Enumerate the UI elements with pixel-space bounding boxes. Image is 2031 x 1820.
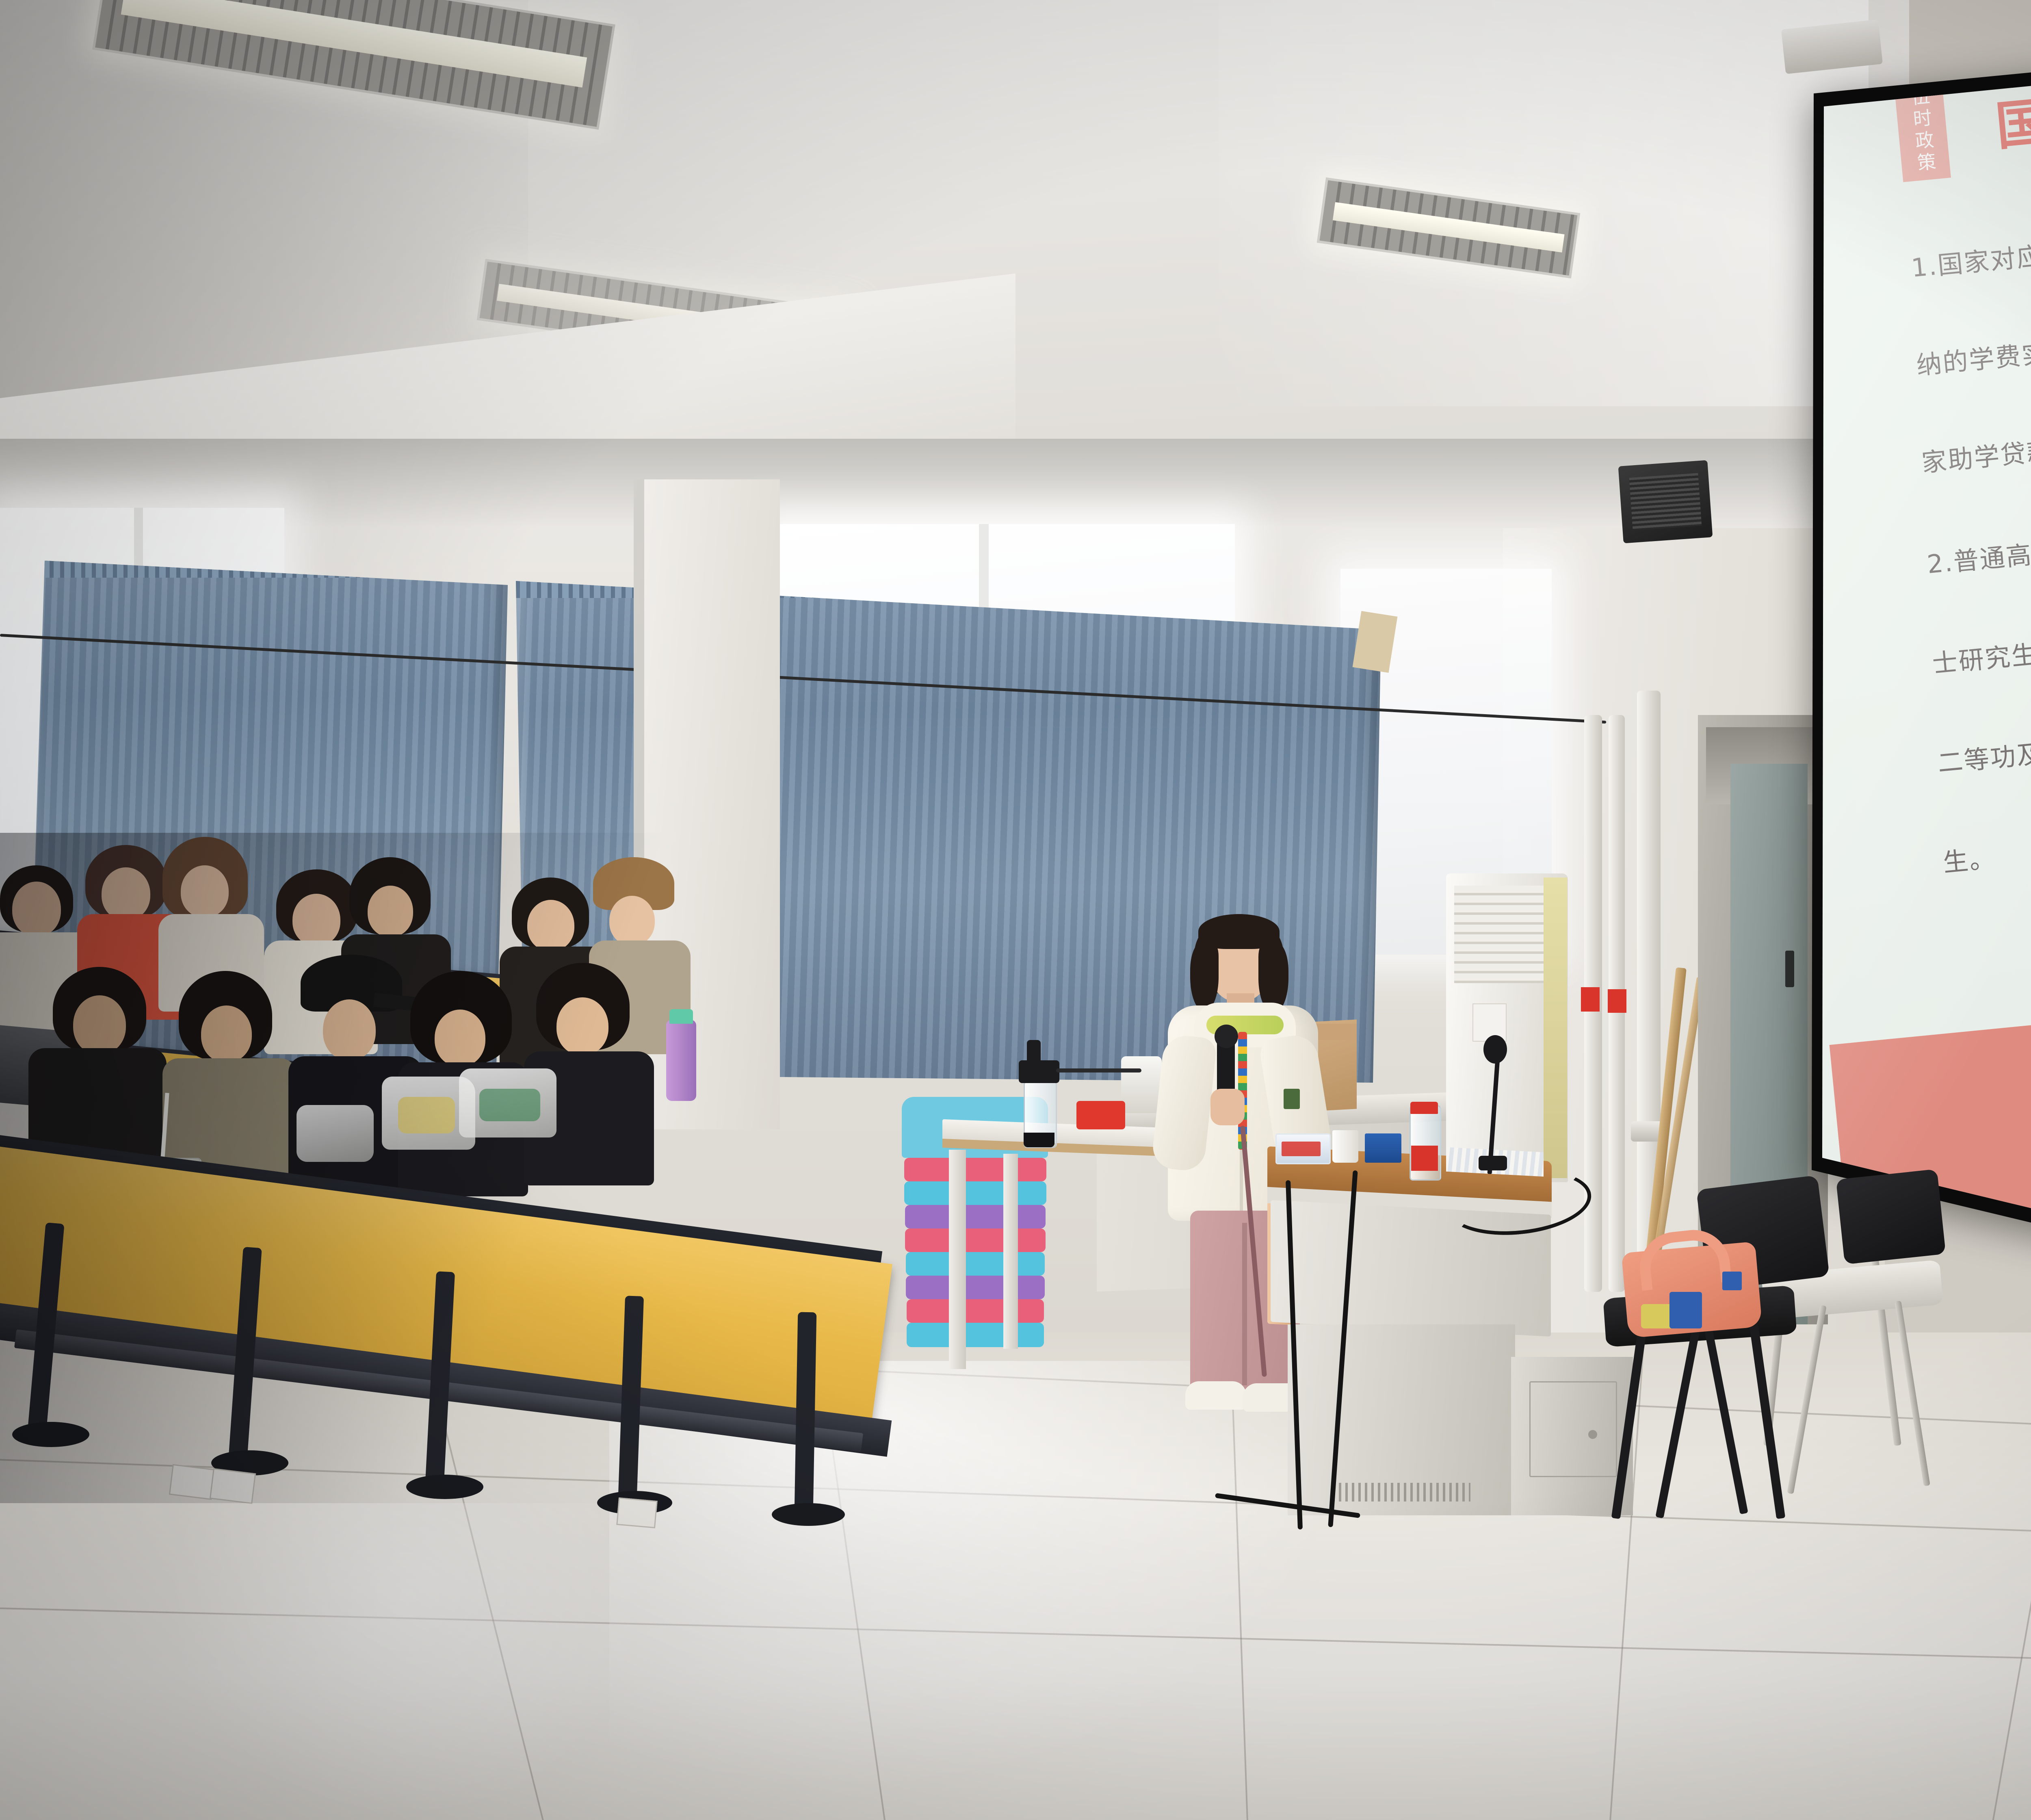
air-conditioner-side-stripe — [1544, 877, 1567, 1178]
plastic-bag — [297, 1105, 374, 1162]
chair-leg — [1655, 1329, 1700, 1518]
presenter-pants-seam — [1242, 1223, 1247, 1385]
bag-contents-blue — [1669, 1292, 1702, 1328]
bottle-cap — [669, 1009, 693, 1024]
chair-back-rear — [1836, 1169, 1946, 1265]
blue-box — [1365, 1133, 1401, 1163]
chair-leg — [1787, 1305, 1826, 1494]
classroom-photo-scene: 入伍时政策 国家政策 1.国家对应征入伍服义务兵役的高校学生，在入伍时对其在校期… — [0, 0, 2031, 1820]
pipe-valve-marker — [1608, 989, 1626, 1013]
spray-bottle-wand — [1056, 1068, 1141, 1072]
seat-post-foot — [406, 1475, 483, 1499]
presenter-hand — [1210, 1089, 1245, 1125]
seat-post-foot — [772, 1503, 845, 1526]
water-bottle-cap — [1410, 1102, 1438, 1114]
table-leg — [949, 1150, 966, 1369]
presenter-badge — [1284, 1089, 1300, 1109]
air-conditioner-label — [1472, 1003, 1507, 1042]
chair-leg — [1611, 1325, 1648, 1519]
seat-post-foot — [12, 1422, 89, 1447]
wall-speaker-grill — [1629, 473, 1702, 531]
chair-leg — [1704, 1329, 1748, 1514]
spray-bottle-base — [1024, 1133, 1054, 1147]
bag-food-contents — [398, 1097, 455, 1133]
paper-cup — [1332, 1130, 1358, 1163]
spray-bottle-handle — [1027, 1040, 1041, 1065]
red-tray — [1076, 1101, 1125, 1129]
gooseneck-mic-base — [1479, 1156, 1507, 1170]
lectern-vent — [1332, 1483, 1470, 1501]
tote-bag-tag — [1722, 1272, 1742, 1290]
table-leg — [1003, 1154, 1018, 1349]
presenter-hair-left — [1190, 942, 1219, 1012]
water-bottle-label — [1411, 1146, 1438, 1171]
gooseneck-mic-head-icon — [1483, 1035, 1507, 1064]
power-socket[interactable] — [616, 1497, 658, 1528]
seat-post — [795, 1312, 817, 1512]
pipe-valve-marker — [1581, 987, 1600, 1012]
lectern-lock-icon[interactable] — [1588, 1430, 1597, 1439]
tissue-box-label — [1282, 1142, 1321, 1156]
folding-chair[interactable] — [1600, 1170, 1909, 1536]
bag-food-contents — [479, 1089, 540, 1121]
air-conditioner-grill — [1454, 886, 1556, 983]
presenter-shoe-left — [1185, 1381, 1246, 1410]
purple-water-bottle — [666, 1020, 696, 1101]
power-socket[interactable] — [210, 1468, 256, 1504]
microphone-head-icon — [1215, 1025, 1238, 1048]
power-socket[interactable] — [169, 1464, 215, 1500]
tiered-seating — [0, 833, 886, 1820]
